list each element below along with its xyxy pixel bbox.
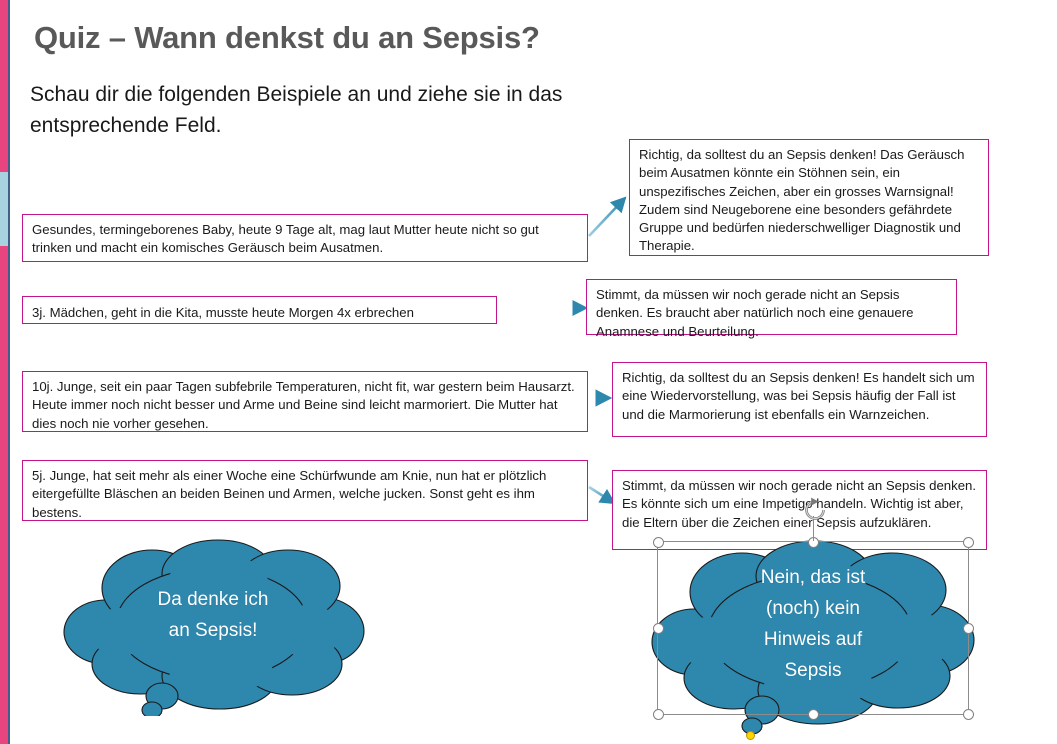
answer-text-3: Richtig, da solltest du an Sepsis denken… <box>622 370 975 422</box>
case-text-1: Gesundes, termingeborenes Baby, heute 9 … <box>32 222 539 255</box>
case-box-4[interactable]: 5j. Junge, hat seit mehr als einer Woche… <box>22 460 588 521</box>
resize-handle-middle-left[interactable] <box>653 623 664 634</box>
case-text-4: 5j. Junge, hat seit mehr als einer Woche… <box>32 468 546 520</box>
resize-handle-bottom-left[interactable] <box>653 709 664 720</box>
answer-box-2[interactable]: Stimmt, da müssen wir noch gerade nicht … <box>586 279 957 335</box>
slide-edge-accent-teal <box>0 172 8 246</box>
adjustment-handle[interactable] <box>746 731 755 740</box>
case-text-2: 3j. Mädchen, geht in die Kita, musste he… <box>32 305 414 320</box>
slide-edge-divider <box>8 0 10 744</box>
resize-handle-top-right[interactable] <box>963 537 974 548</box>
resize-handle-bottom-center[interactable] <box>808 709 819 720</box>
answer-text-2: Stimmt, da müssen wir noch gerade nicht … <box>596 287 913 339</box>
page-subtitle: Schau dir die folgenden Beispiele an und… <box>30 79 690 141</box>
answer-box-1[interactable]: Richtig, da solltest du an Sepsis denken… <box>629 139 989 256</box>
case-box-2[interactable]: 3j. Mädchen, geht in die Kita, musste he… <box>22 296 497 324</box>
drop-target-sepsis-yes[interactable]: Da denke ich an Sepsis! <box>60 536 366 716</box>
connector-arrow-4[interactable] <box>589 487 614 503</box>
page-title: Quiz – Wann denkst du an Sepsis? <box>34 20 540 56</box>
case-text-3: 10j. Junge, seit ein paar Tagen subfebri… <box>32 379 575 431</box>
resize-handle-bottom-right[interactable] <box>963 709 974 720</box>
resize-handle-middle-right[interactable] <box>963 623 974 634</box>
resize-handle-top-left[interactable] <box>653 537 664 548</box>
selection-bounding-box <box>657 541 969 715</box>
case-box-1[interactable]: Gesundes, termingeborenes Baby, heute 9 … <box>22 214 588 262</box>
answer-box-3[interactable]: Richtig, da solltest du an Sepsis denken… <box>612 362 987 437</box>
cloud-label-yes: Da denke ich an Sepsis! <box>78 584 348 646</box>
answer-text-1: Richtig, da solltest du an Sepsis denken… <box>639 147 964 253</box>
slide-edge-accent-pink <box>0 0 8 744</box>
slide-canvas: { "slide": { "title": "Quiz – Wann denks… <box>0 0 1057 744</box>
connector-arrow-1[interactable] <box>589 198 625 236</box>
rotate-cursor-icon <box>798 493 832 527</box>
case-box-3[interactable]: 10j. Junge, seit ein paar Tagen subfebri… <box>22 371 588 432</box>
